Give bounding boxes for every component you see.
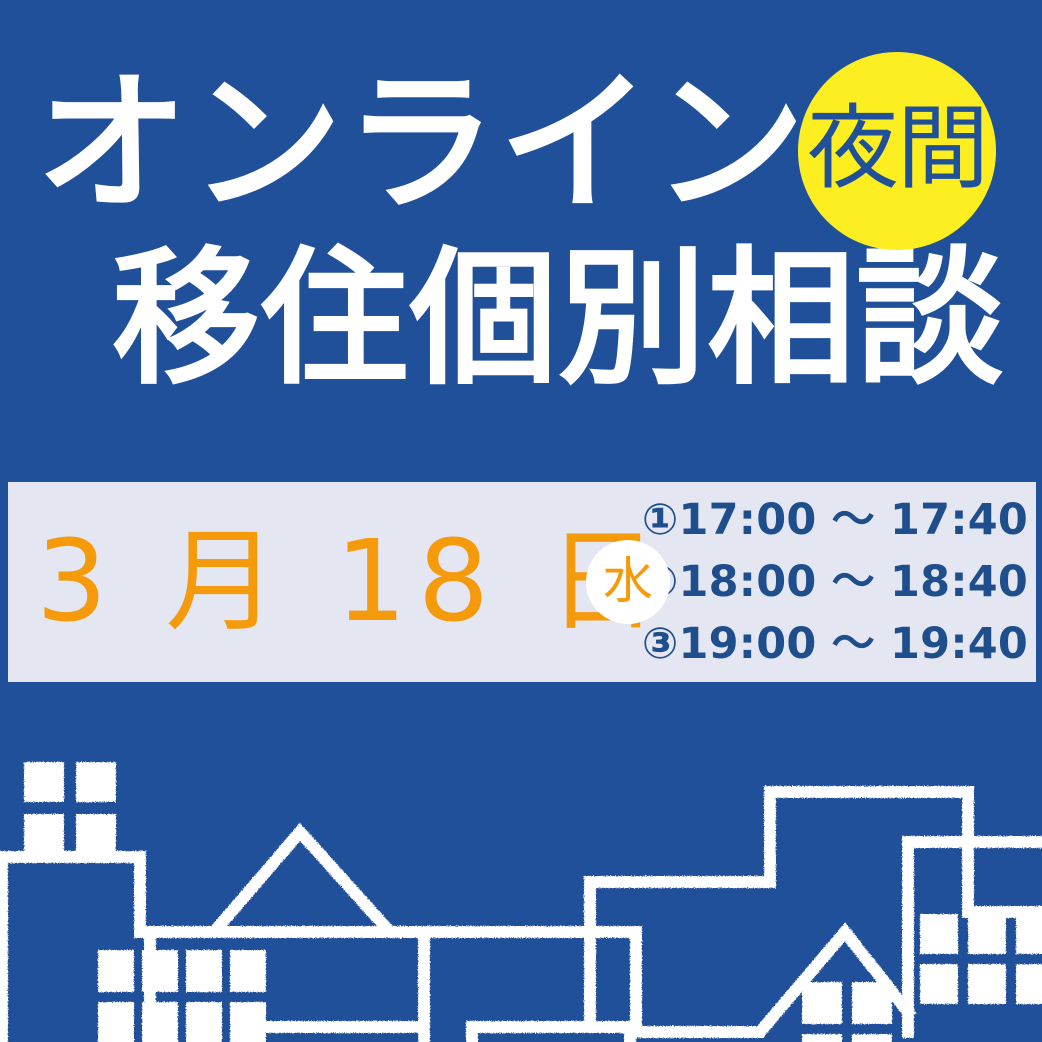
window: [98, 1002, 134, 1042]
time-slot-3: ③19:00 〜 19:40: [642, 616, 1028, 672]
weekday-badge-label: 水: [603, 556, 653, 606]
window: [76, 762, 116, 802]
window: [920, 964, 958, 1004]
window: [98, 950, 134, 992]
window: [968, 914, 1006, 954]
time-slot-1: ①17:00 〜 17:40: [642, 492, 1028, 548]
window: [186, 1002, 222, 1042]
window: [230, 1002, 266, 1042]
window: [802, 982, 842, 1024]
weekday-badge: 水: [586, 540, 670, 624]
time-slot-list: ①17:00 〜 17:40 ②18:00 〜 18:40 ③19:00 〜 1…: [636, 482, 1036, 682]
window: [24, 814, 64, 854]
window: [142, 1002, 178, 1042]
window-group: [24, 762, 1042, 1042]
window: [230, 950, 266, 992]
page-title-line-2: 移住個別相談: [112, 238, 1004, 400]
window: [802, 1034, 842, 1042]
window: [76, 814, 116, 854]
window: [142, 950, 178, 992]
window: [968, 964, 1006, 1004]
window: [186, 950, 222, 992]
window: [920, 914, 958, 954]
night-session-badge: 夜間: [798, 52, 996, 250]
window: [852, 1034, 892, 1042]
window: [1016, 964, 1042, 1004]
window: [24, 762, 64, 802]
date-time-band: 3 月 18 日 水 ①17:00 〜 17:40 ②18:00 〜 18:40…: [8, 482, 1036, 682]
night-session-badge-label: 夜間: [807, 103, 987, 195]
poster-root: オンライン 移住個別相談 夜間 3 月 18 日 水 ①17:00 〜 17:4…: [0, 0, 1042, 1042]
window: [852, 982, 892, 1024]
date-group: 3 月 18 日 水: [8, 482, 636, 682]
page-title-line-1: オンライン: [36, 60, 807, 228]
time-slot-2: ②18:00 〜 18:40: [642, 554, 1028, 610]
window: [1016, 914, 1042, 954]
city-skyline-illustration: [0, 682, 1042, 1042]
city-skyline-svg: [0, 682, 1042, 1042]
event-date: 3 月 18 日: [36, 526, 670, 638]
